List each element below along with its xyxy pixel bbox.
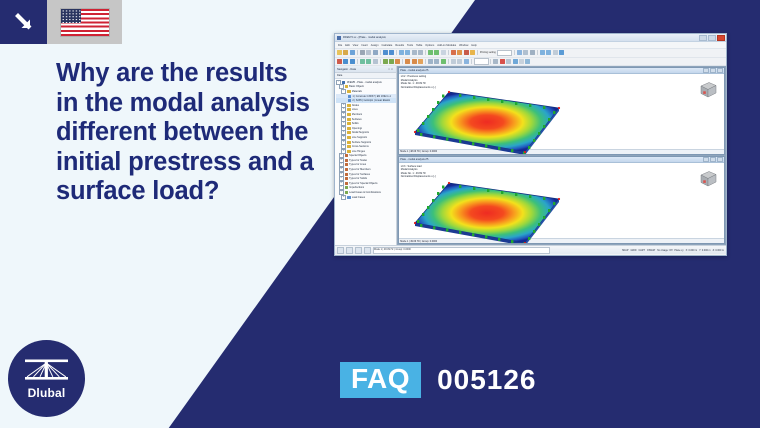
headline-line-4: initial prestress and a (56, 148, 331, 178)
statusbar-field-text: Mode 1 | 48.09 Hz | Group: 0.0000 (374, 248, 411, 251)
toolbar-icon-undo[interactable] (383, 50, 388, 55)
navigator-tree-item-label: Openings (352, 127, 363, 130)
navigator-tree[interactable]: -RFEM5 - Plate - modal analysis-Basic Ob… (335, 79, 396, 245)
page-title: Why are the results in the modal analysi… (56, 59, 331, 207)
collapse-icon[interactable]: - (341, 89, 346, 94)
statusbar-field: Mode 1 | 48.09 Hz | Group: 0.0000 (373, 247, 550, 254)
menu-item-tools[interactable]: Tools (407, 44, 413, 47)
toolbar2-icon-table[interactable] (525, 59, 530, 64)
headline-line-3: different between the (56, 118, 331, 148)
faq-label: FAQ (340, 362, 421, 398)
navigator-tree-item-label: Types for Members (349, 168, 370, 171)
dlubal-brand-text: Dlubal (28, 386, 66, 400)
expand-icon[interactable]: + (341, 195, 346, 200)
navigator-tree-item-label: Nodes (352, 104, 359, 107)
tree-node-icon (347, 127, 350, 130)
toolbar-icon-new[interactable] (337, 50, 342, 55)
statusbar-coord-z: Z: 0.000 m (713, 249, 724, 252)
tree-node-icon (345, 182, 348, 185)
tree-node-icon (347, 141, 350, 144)
toolbar-icon-preview[interactable] (366, 50, 371, 55)
toolbar2-icon-colors[interactable] (500, 59, 505, 64)
toolbar-icon-dimension[interactable] (553, 50, 558, 55)
toolbar-icon-render[interactable] (428, 50, 433, 55)
toolbar2-icon-fe-mesh[interactable] (434, 59, 439, 64)
toolbar-icon-wireframe[interactable] (434, 50, 439, 55)
toolbar2-icon-check[interactable] (441, 59, 446, 64)
navigator-tree-item-label: Types for Special Objects (349, 182, 377, 185)
statusbar-cart[interactable]: CART (638, 249, 644, 252)
menu-item-insert[interactable]: Insert (361, 44, 368, 47)
toolbar2-icon-animate[interactable] (513, 59, 518, 64)
viewport-1-maximize[interactable] (710, 68, 716, 73)
tree-node-icon (348, 99, 351, 102)
statusbar-icon-settings[interactable] (364, 247, 371, 254)
toolbar-icon-settings[interactable] (530, 50, 535, 55)
navigator-tree-item-label: Line Supports (352, 136, 367, 139)
toolbar2-icon-node[interactable] (337, 59, 342, 64)
tree-node-icon (342, 81, 345, 84)
toolbar-icon-rotate[interactable] (418, 50, 423, 55)
toolbar-icon-cut[interactable] (373, 50, 378, 55)
tree-node-icon (347, 113, 350, 116)
toolbar2-icon-mesh[interactable] (428, 59, 433, 64)
work-area: Navigator - Data □✕ Data -RFEM5 - Plate … (335, 66, 726, 245)
app-icon (337, 36, 341, 40)
menu-item-help[interactable]: Help (471, 44, 476, 47)
tree-node-icon (345, 154, 348, 157)
toolbar2-icon-line[interactable] (343, 59, 348, 64)
viewport-2[interactable]: Plate - modal analysis.rf5 LC3 : Surface… (398, 156, 725, 244)
statusbar-icon-results[interactable] (355, 247, 362, 254)
tree-node-icon (347, 145, 350, 148)
toolbar2-icon-line-load[interactable] (405, 59, 410, 64)
menu-item-table[interactable]: Table (416, 44, 422, 47)
navigator-header-buttons[interactable]: □✕ (388, 68, 394, 71)
tree-node-icon (345, 159, 348, 162)
window-title: RFEM 5.xx - [Plate - modal analysis] (343, 36, 386, 39)
toolbar-icon-redo[interactable] (389, 50, 394, 55)
navigator-tree-item-label: Types for Solids (349, 177, 367, 180)
toolbar-icon-filter[interactable] (523, 50, 528, 55)
statusbar-coord-x: X: 0.000 m (686, 249, 698, 252)
navigator-tree-item-label: Surfaces (352, 118, 362, 121)
tree-node-icon (345, 168, 348, 171)
navigator-tab-data[interactable]: Data (337, 74, 342, 77)
menu-item-view[interactable]: View (353, 44, 359, 47)
headline-line-2: in the modal analysis (56, 89, 331, 119)
toolbar-printing-setting-select[interactable] (497, 50, 512, 57)
tree-node-icon (347, 90, 350, 93)
navigator-tree-item[interactable]: +Load Cases (336, 195, 396, 200)
toolbar-icon-deformation[interactable] (464, 50, 469, 55)
tree-node-icon (347, 150, 350, 153)
status-bar: Mode 1 | 48.09 Hz | Group: 0.0000 SNAP G… (335, 245, 726, 254)
viewport-2-info: LC3 : Surface load Modal Analysis Mode N… (401, 165, 436, 179)
rfem-application-window: RFEM 5.xx - [Plate - modal analysis] Fil… (334, 33, 727, 256)
tree-node-icon (347, 131, 350, 134)
toolbar-icon-osnap[interactable] (546, 50, 551, 55)
toolbar2-icon-surface-load[interactable] (412, 59, 417, 64)
toolbar-icon-pan[interactable] (412, 50, 417, 55)
menu-item-file[interactable]: File (338, 44, 342, 47)
statusbar-icon-loads[interactable] (346, 247, 353, 254)
corner-tabs (0, 0, 122, 44)
toolbar-icon-open[interactable] (343, 50, 348, 55)
toolbar-icon-grid[interactable] (441, 50, 446, 55)
navigator-tree-item-label: Materials (352, 90, 362, 93)
navigator-tree-item-label: Nodal Supports (352, 131, 369, 134)
viewport-1-view-cube-icon[interactable] (698, 80, 718, 100)
toolbar-icon-load-case[interactable] (517, 50, 522, 55)
tree-spacer (344, 95, 347, 98)
viewport-2-title: Plate - modal analysis.rf5 (400, 158, 428, 161)
tree-node-icon (345, 186, 348, 189)
toolbar2-icon-visibility[interactable] (464, 59, 469, 64)
tree-node-icon (347, 196, 350, 199)
viewport-1-title: Plate - modal analysis.rf5 (400, 69, 428, 72)
tree-node-icon (347, 108, 350, 111)
language-flag-button[interactable] (47, 0, 122, 44)
navigator-tree-item-label: Imperfections (349, 186, 364, 189)
tree-node-icon (348, 95, 351, 98)
navigator-tree-item-label: Line Hinges (352, 150, 365, 153)
statusbar-usage: No Usage: Off (657, 249, 672, 252)
toolbar-icon-zoom-all[interactable] (399, 50, 404, 55)
toolbar2-icon-solid[interactable] (366, 59, 371, 64)
toolbar2-icon-export[interactable] (519, 59, 524, 64)
menu-bar[interactable]: File Edit View Insert Assign Calculate R… (335, 42, 726, 49)
arrow-down-right-icon (0, 0, 47, 44)
toolbar2-icon-section[interactable] (451, 59, 456, 64)
navigator-tree-item-label: Special Objects (349, 154, 366, 157)
toolbar2-icon-surface[interactable] (360, 59, 365, 64)
toolbar2-icon-legend[interactable] (506, 59, 511, 64)
tree-node-icon (345, 173, 348, 176)
navigator-header: Navigator - Data □✕ (335, 66, 396, 73)
tree-node-icon (345, 85, 348, 88)
toolbar-row-2[interactable] (335, 58, 726, 67)
tree-node-icon (347, 104, 350, 107)
navigator-tree-item-label: Basic Objects (349, 85, 364, 88)
window-controls[interactable] (699, 35, 725, 41)
tree-node-icon (347, 136, 350, 139)
viewport-2-mode-shape (407, 179, 567, 244)
statusbar-snap[interactable]: SNAP (622, 249, 629, 252)
dlubal-logo: Dlubal (8, 340, 85, 417)
slide-canvas: Why are the results in the modal analysi… (0, 0, 760, 428)
menu-item-addon-modules[interactable]: Add-on Modules (437, 44, 456, 47)
navigator-title: Navigator - Data (337, 68, 356, 71)
headline-line-1: Why are the results (56, 59, 331, 89)
tree-node-icon (345, 163, 348, 166)
viewport-2-minimize[interactable] (703, 157, 709, 162)
toolbar-row-1[interactable]: Printing setting (335, 49, 726, 58)
navigator-tree-item-label: Types for Nodes (349, 159, 367, 162)
viewport-1-mode-shape (407, 88, 567, 155)
faq-number: 005126 (437, 366, 536, 394)
toolbar2-icon-free-load[interactable] (418, 59, 423, 64)
toolbar-icon-snap[interactable] (540, 50, 545, 55)
navigator-tree-item-label: 2 | S235 | Isotropic | Linear Elastic (352, 99, 390, 102)
tree-node-icon (347, 122, 350, 125)
statusbar-grid[interactable]: GRID (630, 249, 636, 252)
toolbar2-icon-nodal-load[interactable] (395, 59, 400, 64)
menu-item-results[interactable]: Results (395, 44, 404, 47)
toolbar-icon-zoom-window[interactable] (405, 50, 410, 55)
toolbar2-icon-support[interactable] (383, 59, 388, 64)
navigator-tree-item-label: Cross-Sections (352, 145, 369, 148)
viewport-2-maximize[interactable] (710, 157, 716, 162)
us-flag-icon (61, 9, 109, 36)
toolbar-icon-results[interactable] (457, 50, 462, 55)
toolbar-icon-print[interactable] (360, 50, 365, 55)
close-button[interactable] (717, 35, 725, 41)
statusbar-plane: Plane xy (674, 249, 683, 252)
navigator-tree-item-label: Lines (352, 108, 358, 111)
statusbar-coord-y: Y: 0.000 m (699, 249, 710, 252)
toolbar2-icon-display[interactable] (493, 59, 498, 64)
menu-item-assign[interactable]: Assign (371, 44, 379, 47)
maximize-button[interactable] (708, 35, 716, 41)
navigator-panel: Navigator - Data □✕ Data -RFEM5 - Plate … (335, 66, 397, 245)
toolbar-icon-info[interactable] (559, 50, 564, 55)
viewport-1-controls[interactable] (703, 68, 723, 73)
menu-item-calculate[interactable]: Calculate (382, 44, 393, 47)
navigator-tree-item-label: Load Cases & Combinations (349, 191, 381, 194)
viewport-1-minimize[interactable] (703, 68, 709, 73)
viewport-2-view-cube-icon[interactable] (698, 169, 718, 189)
statusbar-icon-model[interactable] (337, 247, 344, 254)
toolbar-icon-contour[interactable] (470, 50, 475, 55)
toolbar2-icon-member[interactable] (350, 59, 355, 64)
toolbar2-icon-hinge[interactable] (389, 59, 394, 64)
viewport-2-canvas[interactable]: LC3 : Surface load Modal Analysis Mode N… (399, 163, 724, 238)
toolbar-icon-calculate[interactable] (451, 50, 456, 55)
tree-spacer (344, 99, 347, 102)
toolbar2-icon-clipping[interactable] (457, 59, 462, 64)
viewport-2-close[interactable] (717, 157, 723, 162)
toolbar-icon-save[interactable] (350, 50, 355, 55)
minimize-button[interactable] (699, 35, 707, 41)
navigator-tree-item-label: Types for Surfaces (349, 173, 370, 176)
tree-node-icon (347, 118, 350, 121)
navigator-tree-item-label: Solids (352, 122, 359, 125)
menu-item-window[interactable]: Window (459, 44, 468, 47)
navigator-tree-item-label: Members (352, 113, 362, 116)
navigator-tree-item-label: 1 | Concrete C30/37 | EN 1992-1-1 (352, 95, 391, 98)
dlubal-bridge-icon (24, 358, 69, 384)
viewport-1[interactable]: Plate - modal analysis.rf5 LC2 : Prestre… (398, 67, 725, 155)
headline-line-5: surface load? (56, 177, 331, 207)
toolbar-printing-setting-label: Printing setting (480, 51, 496, 54)
faq-bar: FAQ 005126 (340, 362, 537, 398)
toolbar2-load-case-select[interactable] (474, 58, 489, 65)
window-titlebar: RFEM 5.xx - [Plate - modal analysis] (335, 34, 726, 42)
tree-node-icon (345, 177, 348, 180)
navigator-tree-item-label: Types for Lines (349, 163, 366, 166)
menu-item-edit[interactable]: Edit (345, 44, 349, 47)
viewport-container: Plate - modal analysis.rf5 LC2 : Prestre… (397, 66, 726, 245)
navigator-tree-item-label: Load Cases (352, 196, 365, 199)
menu-item-options[interactable]: Options (425, 44, 434, 47)
viewport-1-canvas[interactable]: LC2 : Prestress setting Modal Analysis M… (399, 74, 724, 149)
tree-node-icon (345, 191, 348, 194)
navigator-tree-item-label: RFEM5 - Plate - modal analysis (347, 81, 382, 84)
viewport-2-info-line-4: Normalized Displacements u [-] (401, 175, 436, 178)
viewport-1-close[interactable] (717, 68, 723, 73)
statusbar-osnap[interactable]: OSNAP (647, 249, 655, 252)
toolbar2-icon-opening[interactable] (373, 59, 378, 64)
viewport-2-controls[interactable] (703, 157, 723, 162)
navigator-tree-item-label: Surface Supports (352, 141, 371, 144)
